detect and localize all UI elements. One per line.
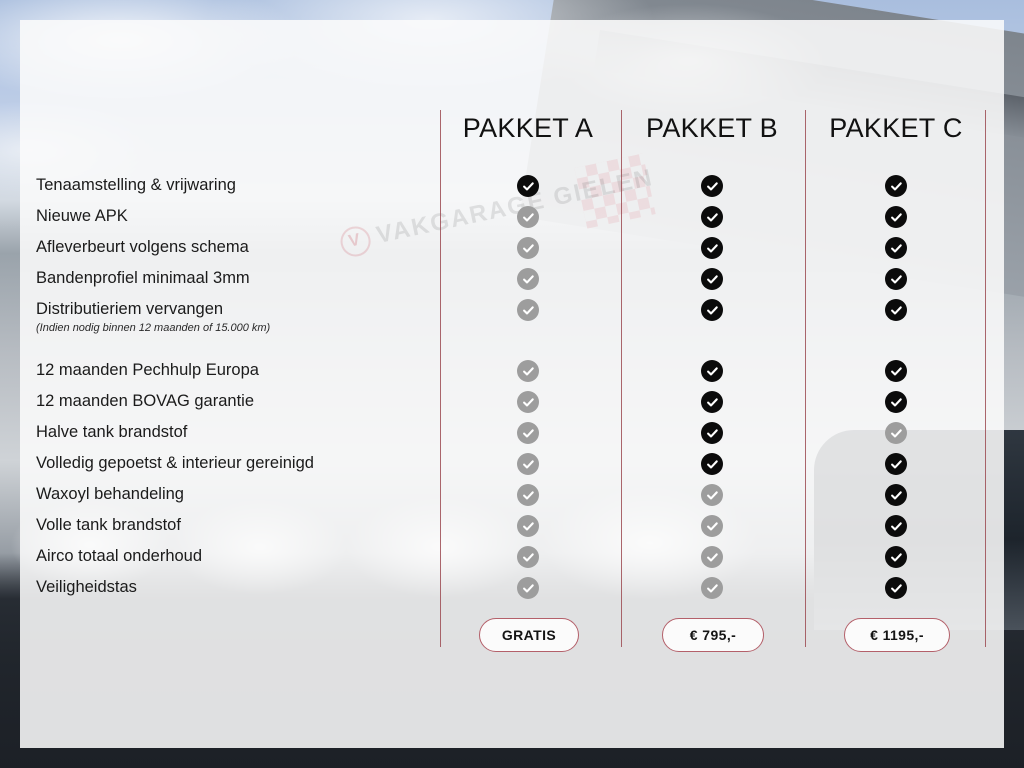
check-icon-a-excluded [517,268,539,290]
check-icon-a-included [517,175,539,197]
check-icon-c-included [885,206,907,228]
check-icon-c-included [885,453,907,475]
check-icon-b-included [701,299,723,321]
check-icon-a-excluded [517,391,539,413]
check-icon-a-excluded [517,484,539,506]
check-icon-c-included [885,237,907,259]
feature-label: Tenaamstelling & vrijwaring [36,176,236,195]
price-pill-c[interactable]: € 1195,- [844,618,950,652]
check-icon-b-excluded [701,484,723,506]
check-icon-a-excluded [517,206,539,228]
price-pill-a[interactable]: GRATIS [479,618,579,652]
check-icon-c-excluded [885,422,907,444]
check-icon-a-excluded [517,515,539,537]
check-icon-b-included [701,268,723,290]
check-icon-c-included [885,484,907,506]
column-divider-0 [440,110,441,647]
check-icon-b-excluded [701,515,723,537]
feature-label: Nieuwe APK [36,207,128,226]
column-divider-3 [985,110,986,647]
check-icon-a-excluded [517,546,539,568]
check-icon-b-included [701,237,723,259]
column-divider-1 [621,110,622,647]
check-icon-b-included [701,175,723,197]
check-icon-b-included [701,453,723,475]
check-icon-a-excluded [517,577,539,599]
check-icon-c-included [885,175,907,197]
package-header-b: PAKKET B [622,113,802,144]
feature-label: Airco totaal onderhoud [36,547,202,566]
check-icon-b-included [701,206,723,228]
feature-label: Halve tank brandstof [36,423,187,442]
check-icon-c-included [885,546,907,568]
feature-label: Distributieriem vervangen [36,300,223,319]
feature-label: Volledig gepoetst & interieur gereinigd [36,454,314,473]
check-icon-c-included [885,268,907,290]
check-icon-a-excluded [517,237,539,259]
check-icon-b-included [701,360,723,382]
check-icon-c-included [885,577,907,599]
check-icon-b-excluded [701,546,723,568]
check-icon-c-included [885,360,907,382]
check-icon-a-excluded [517,453,539,475]
feature-label: Bandenprofiel minimaal 3mm [36,269,250,288]
package-header-a: PAKKET A [438,113,618,144]
check-icon-b-excluded [701,577,723,599]
column-divider-2 [805,110,806,647]
check-icon-c-included [885,391,907,413]
feature-label: 12 maanden Pechhulp Europa [36,361,259,380]
feature-label: 12 maanden BOVAG garantie [36,392,254,411]
feature-label: Afleverbeurt volgens schema [36,238,249,257]
package-comparison-table: PAKKET APAKKET BPAKKET CTenaamstelling &… [0,0,1024,768]
check-icon-b-included [701,391,723,413]
feature-label: Waxoyl behandeling [36,485,184,504]
feature-sublabel: (Indien nodig binnen 12 maanden of 15.00… [36,322,270,334]
check-icon-a-excluded [517,422,539,444]
feature-label: Veiligheidstas [36,578,137,597]
check-icon-c-included [885,515,907,537]
check-icon-c-included [885,299,907,321]
check-icon-a-excluded [517,360,539,382]
package-header-c: PAKKET C [806,113,986,144]
check-icon-a-excluded [517,299,539,321]
price-pill-b[interactable]: € 795,- [662,618,764,652]
check-icon-b-included [701,422,723,444]
feature-label: Volle tank brandstof [36,516,181,535]
